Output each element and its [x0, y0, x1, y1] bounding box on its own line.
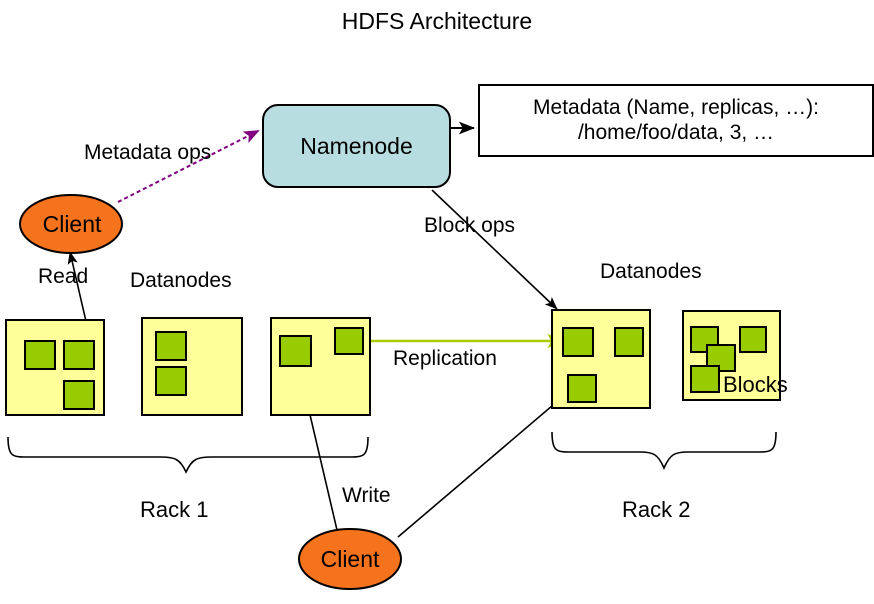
- block: [691, 366, 719, 392]
- block: [563, 328, 593, 356]
- read-arrow: [70, 252, 88, 330]
- rack2-brace: [552, 432, 776, 468]
- datanode-1[interactable]: [6, 320, 104, 415]
- datanode-4[interactable]: [552, 310, 650, 408]
- block: [156, 332, 186, 360]
- datanode-2[interactable]: [142, 318, 242, 415]
- block: [740, 327, 766, 352]
- hdfs-architecture-diagram: HDFS Architecture: [0, 0, 874, 604]
- datanode-3[interactable]: [271, 318, 370, 415]
- write-label: Write: [342, 485, 391, 507]
- replication-label: Replication: [393, 348, 497, 370]
- block: [156, 367, 186, 395]
- rack1-label: Rack 1: [140, 498, 208, 521]
- block: [25, 341, 55, 369]
- namenode-box[interactable]: [263, 105, 450, 187]
- client-bottom-node[interactable]: [299, 529, 401, 589]
- block: [335, 328, 363, 354]
- block: [64, 381, 94, 409]
- client-top-node[interactable]: [20, 195, 122, 253]
- datanodes-right-label: Datanodes: [600, 261, 702, 283]
- datanodes-left-label: Datanodes: [130, 270, 232, 292]
- diagram-vectors: [0, 0, 874, 604]
- rack1-brace: [8, 437, 368, 472]
- rack2-label: Rack 2: [622, 498, 690, 521]
- read-label: Read: [38, 266, 88, 288]
- block-ops-label: Block ops: [424, 215, 515, 237]
- block: [615, 328, 643, 356]
- blocks-label: Blocks: [723, 373, 788, 396]
- metadata-ops-label: Metadata ops: [84, 142, 211, 164]
- block: [568, 375, 596, 402]
- write-arrow-to-datanode-4: [398, 394, 566, 537]
- block: [280, 336, 311, 366]
- metadata-box[interactable]: [479, 85, 873, 156]
- block-ops-arrow: [432, 190, 557, 309]
- block: [64, 341, 94, 369]
